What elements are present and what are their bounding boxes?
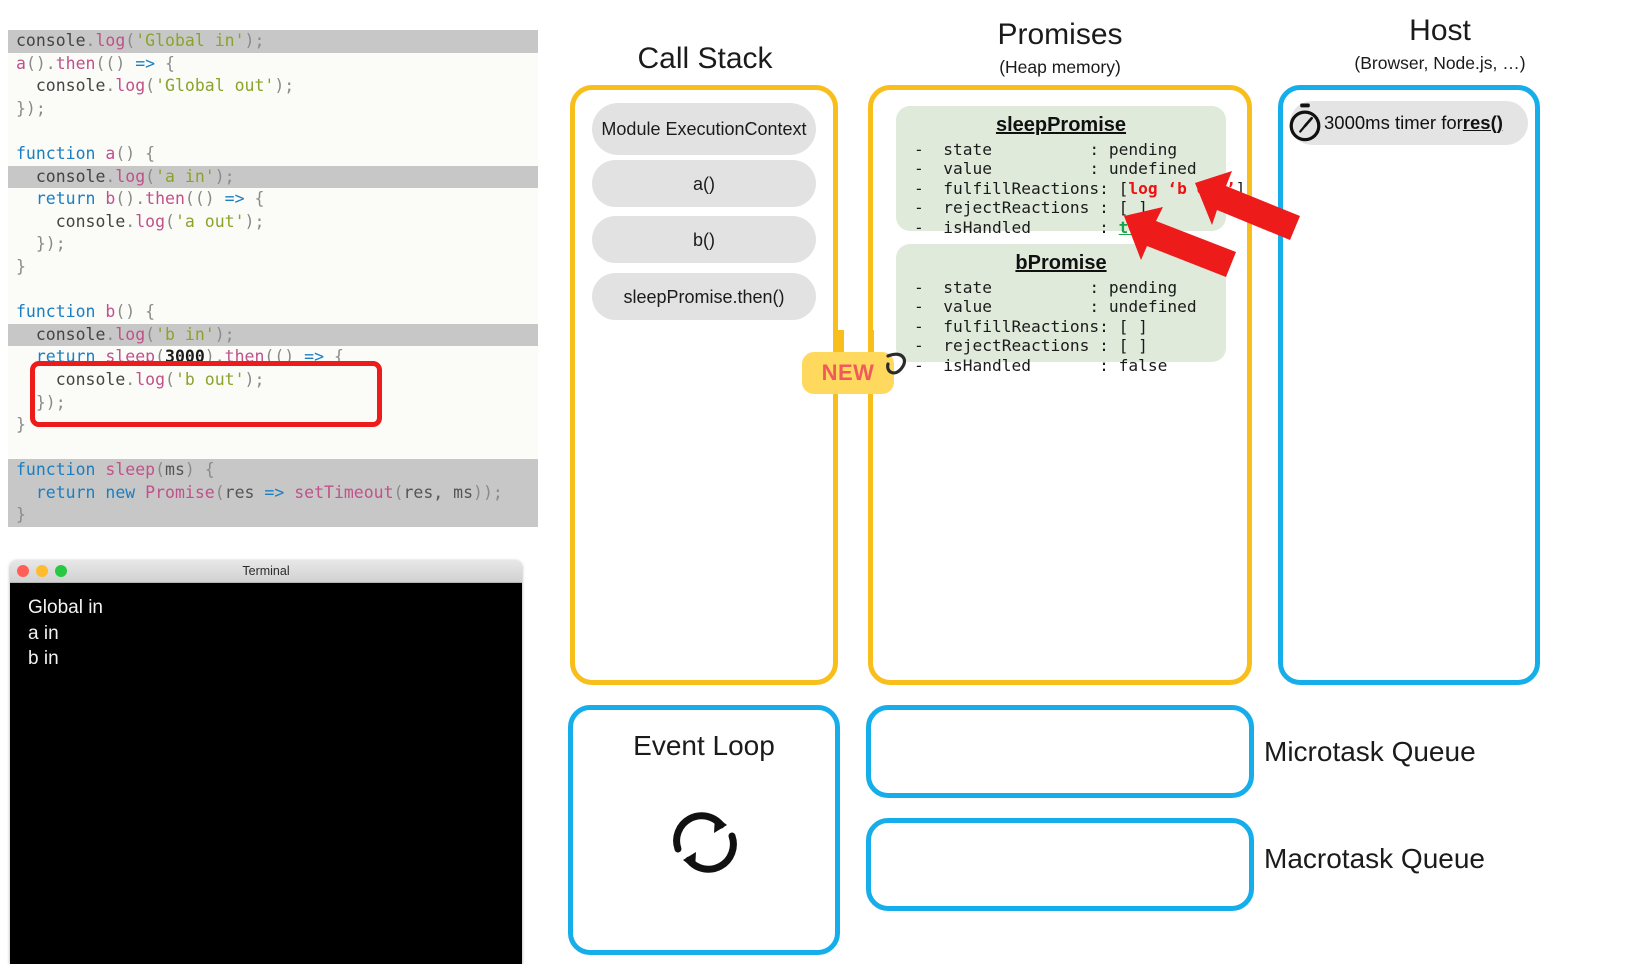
code-line: }); bbox=[8, 98, 538, 121]
promise-card-rows: - state : pending- value : undefined- fu… bbox=[896, 140, 1226, 237]
code-line: function sleep(ms) { bbox=[8, 459, 538, 482]
code-line: }); bbox=[8, 392, 538, 415]
microtask-queue-label: Microtask Queue bbox=[1264, 736, 1476, 768]
code-line: function a() { bbox=[8, 143, 538, 166]
promise-field-row: - fulfillReactions: [ ] bbox=[914, 317, 1226, 336]
badge-hook-icon bbox=[880, 348, 914, 382]
callstack-heading: Call Stack bbox=[570, 42, 840, 76]
host-heading: Host bbox=[1265, 14, 1615, 48]
terminal-output: Global ina inb in bbox=[10, 583, 522, 964]
terminal-line: Global in bbox=[28, 595, 522, 621]
promise-card: sleepPromise- state : pending- value : u… bbox=[896, 106, 1226, 231]
promise-field-row: - rejectReactions : [ ] bbox=[914, 336, 1226, 355]
promise-card-title: bPromise bbox=[896, 252, 1226, 275]
code-line: } bbox=[8, 504, 538, 527]
code-line: } bbox=[8, 256, 538, 279]
host-timer-callback: res() bbox=[1463, 112, 1503, 134]
host-timer-text: 3000ms timer for bbox=[1324, 112, 1463, 134]
promise-field-row: - state : pending bbox=[914, 278, 1226, 297]
promise-field-row: - isHandled : true bbox=[914, 218, 1226, 237]
terminal-title: Terminal bbox=[10, 564, 522, 578]
code-line: console.log('b in'); bbox=[8, 324, 538, 347]
terminal-line: a in bbox=[28, 621, 522, 647]
code-line: return sleep(3000).then(() => { bbox=[8, 346, 538, 369]
code-line: console.log('a in'); bbox=[8, 166, 538, 189]
host-panel bbox=[1278, 85, 1540, 685]
code-line: console.log('Global out'); bbox=[8, 75, 538, 98]
callstack-frame: a() bbox=[592, 160, 816, 207]
promise-field-row: - value : undefined bbox=[914, 297, 1226, 316]
callstack-frame: Module ExecutionContext bbox=[592, 103, 816, 155]
code-line: }); bbox=[8, 233, 538, 256]
promises-subheading: (Heap memory) bbox=[860, 57, 1260, 78]
code-line: function b() { bbox=[8, 301, 538, 324]
promise-card-title: sleepPromise bbox=[896, 114, 1226, 137]
macrotask-queue-label: Macrotask Queue bbox=[1264, 843, 1485, 875]
microtask-queue-box bbox=[866, 705, 1254, 798]
code-line bbox=[8, 279, 538, 302]
promise-card-rows: - state : pending- value : undefined- fu… bbox=[896, 278, 1226, 375]
promise-field-row: - fulfillReactions: [log ‘b out’] bbox=[914, 179, 1226, 198]
code-line: console.log('Global in'); bbox=[8, 30, 538, 53]
code-line: } bbox=[8, 414, 538, 437]
code-snippet-panel: console.log('Global in');a().then(() => … bbox=[8, 30, 538, 527]
stopwatch-icon bbox=[1286, 103, 1324, 143]
host-timer-chip: 3000ms timer for res() bbox=[1290, 101, 1528, 145]
promise-card: bPromise- state : pending- value : undef… bbox=[896, 244, 1226, 362]
macrotask-queue-box bbox=[866, 818, 1254, 911]
promise-field-row: - isHandled : false bbox=[914, 356, 1226, 375]
promise-field-row: - rejectReactions : [ ] bbox=[914, 198, 1226, 217]
left-column: console.log('Global in');a().then(() => … bbox=[0, 0, 545, 964]
promise-field-row: - value : undefined bbox=[914, 159, 1226, 178]
callstack-frame: sleepPromise.then() bbox=[592, 273, 816, 320]
code-line: console.log('a out'); bbox=[8, 211, 538, 234]
refresh-loop-icon bbox=[665, 805, 745, 880]
callstack-frame: b() bbox=[592, 216, 816, 263]
promise-field-row: - state : pending bbox=[914, 140, 1226, 159]
eventloop-label: Event Loop bbox=[568, 730, 840, 762]
terminal-line: b in bbox=[28, 646, 522, 672]
promises-heading: Promises bbox=[860, 18, 1260, 52]
code-line bbox=[8, 437, 538, 460]
host-subheading: (Browser, Node.js, …) bbox=[1265, 53, 1615, 74]
terminal-titlebar: Terminal bbox=[10, 560, 522, 583]
code-line: a().then(() => { bbox=[8, 53, 538, 76]
code-line: return b().then(() => { bbox=[8, 188, 538, 211]
code-line bbox=[8, 120, 538, 143]
terminal-window: Terminal Global ina inb in bbox=[10, 560, 522, 964]
code-line: return new Promise(res => setTimeout(res… bbox=[8, 482, 538, 505]
code-line: console.log('b out'); bbox=[8, 369, 538, 392]
